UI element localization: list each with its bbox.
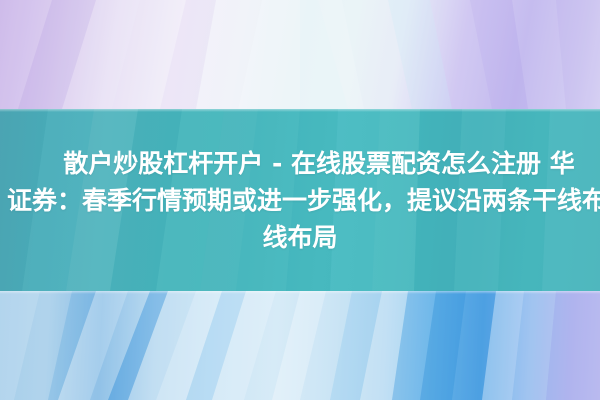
bottom-decorative-band xyxy=(0,291,600,400)
headline-line-3: 线布局 xyxy=(262,219,337,256)
bottom-band-gradient xyxy=(0,291,600,400)
top-decorative-band xyxy=(0,0,600,109)
bottom-band-top-edge xyxy=(0,291,600,294)
top-band-gradient xyxy=(0,0,600,109)
banner-headline: 散户炒股杠杆开户 - 在线股票配资怎么注册 华 证券：春季行情预期或进一步强化，… xyxy=(0,109,600,291)
banner-image: 散户炒股杠杆开户 - 在线股票配资怎么注册 华 证券：春季行情预期或进一步强化，… xyxy=(0,0,600,400)
headline-line-2: 证券：春季行情预期或进一步强化，提议沿两条干线布 xyxy=(7,182,600,219)
headline-line-1: 散户炒股杠杆开户 - 在线股票配资怎么注册 华 xyxy=(63,145,575,182)
